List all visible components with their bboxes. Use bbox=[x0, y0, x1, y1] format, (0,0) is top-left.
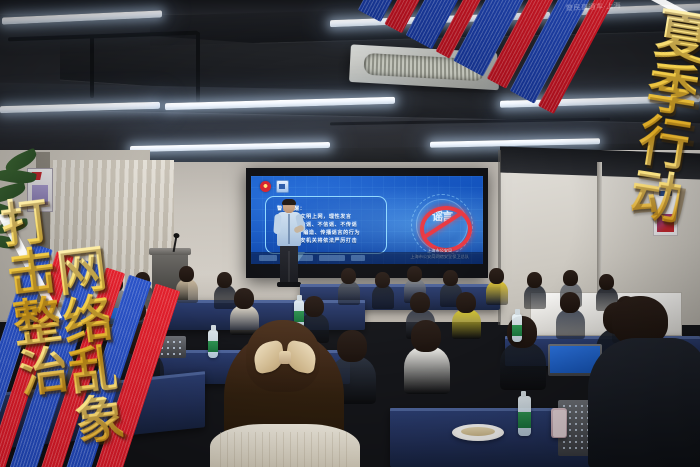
smartphone bbox=[551, 408, 567, 438]
attendee-body bbox=[556, 309, 585, 339]
attendee-head bbox=[304, 296, 324, 317]
laptop bbox=[144, 336, 186, 358]
attendee-head bbox=[489, 268, 504, 284]
attendee-head bbox=[560, 292, 580, 313]
foreground-attendee-right bbox=[600, 296, 700, 467]
attendee-body bbox=[404, 346, 450, 394]
snack-plate bbox=[452, 424, 504, 441]
water-bottle bbox=[512, 314, 522, 342]
attendee-body bbox=[452, 309, 481, 339]
attendee-head bbox=[341, 268, 356, 284]
ceiling-pipe bbox=[196, 32, 200, 102]
foreground-attendee-with-bow bbox=[210, 320, 360, 467]
screen-logo-row bbox=[260, 180, 289, 193]
attendee-body bbox=[338, 281, 360, 305]
attendee-head bbox=[411, 320, 441, 352]
slide-text-line: 公安机关将依法严厉打击 bbox=[295, 237, 358, 245]
attendee-body bbox=[500, 342, 546, 390]
attendee-head bbox=[456, 292, 476, 313]
attendee-body bbox=[524, 285, 546, 309]
hair-bow bbox=[254, 342, 316, 374]
police-officer-presenter bbox=[274, 200, 304, 284]
attendee-head bbox=[443, 270, 458, 286]
cyber-police-badge-logo bbox=[276, 180, 289, 193]
no-rumor-prohibition-icon: 谣言 bbox=[411, 194, 473, 256]
attendee-body bbox=[176, 279, 198, 303]
attendee-head bbox=[234, 288, 254, 309]
attendee-body bbox=[214, 285, 236, 309]
ceiling-pipe bbox=[330, 118, 610, 126]
attendee-head bbox=[217, 272, 232, 288]
attendee-head bbox=[563, 270, 578, 286]
attendee-head bbox=[599, 274, 614, 290]
attendee-head bbox=[527, 272, 542, 288]
attendee-head bbox=[179, 266, 194, 282]
police-emblem-logo bbox=[260, 181, 271, 192]
slide-text-line: 文明上网，理性发言 bbox=[300, 213, 351, 221]
ceiling-pipe bbox=[90, 36, 94, 98]
attendee-head bbox=[410, 292, 430, 313]
attendee-body bbox=[486, 281, 508, 305]
attendee-body bbox=[372, 285, 394, 309]
water-bottle bbox=[518, 396, 531, 436]
attendee-head bbox=[375, 272, 390, 288]
ceiling-cassette-ac-unit bbox=[349, 44, 499, 90]
attendee-head bbox=[407, 266, 422, 282]
attendee-head bbox=[108, 276, 123, 292]
poster-root: 警方提醒： 文明上网，理性发言 不造谣、不信谣、不传谣 对于编造、传播谣言的行为… bbox=[0, 0, 700, 467]
attendee-head bbox=[135, 272, 150, 288]
